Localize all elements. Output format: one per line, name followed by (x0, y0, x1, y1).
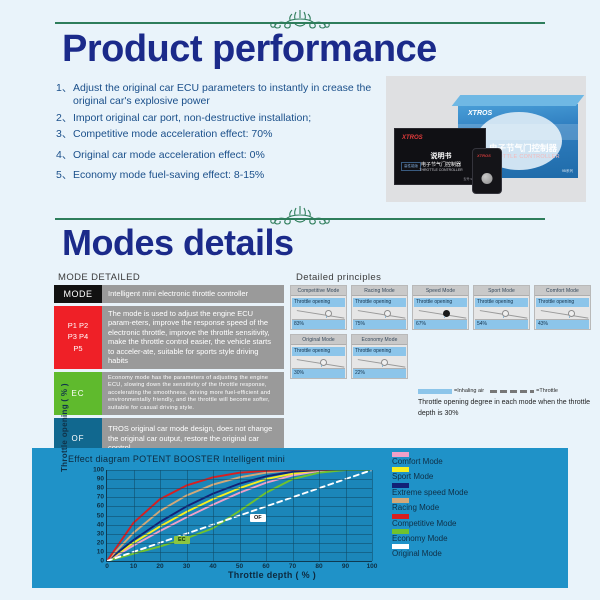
chart-legend-label: Sport Mode (392, 473, 542, 481)
y-axis-tick-label: 40 (97, 521, 104, 528)
chart-legend-label: Extreme speed Mode (392, 489, 542, 497)
page-title-modes-details: Modes details (62, 222, 294, 264)
chart-legend-item: Comfort Mode (392, 452, 542, 466)
grid-line-vertical (266, 470, 267, 561)
grid-line-vertical (160, 470, 161, 561)
legend-row: =Inhaling air =Throttle (418, 388, 596, 394)
card-subtitle: Throttle opening (292, 298, 345, 307)
y-axis-tick-label: 0 (100, 558, 104, 565)
y-axis-tick-label: 60 (97, 503, 104, 510)
product-photo: XTROS 电子节气门控制器 THROTTLE CONTROLLER 9B系列 … (386, 76, 586, 202)
x-axis-tick-label: 40 (209, 563, 216, 570)
y-axis-tick-label: 90 (97, 476, 104, 483)
bullet-text: Economy mode fuel-saving effect: 8-15% (73, 169, 376, 182)
bullet-text: Competitive mode acceleration effect: 70… (73, 128, 376, 141)
grid-line-vertical (319, 470, 320, 561)
card-title: Racing Mode (352, 286, 407, 296)
list-item: 4、 Original car mode acceleration effect… (56, 149, 376, 162)
chart-legend-item: Competitive Mode (392, 514, 542, 528)
x-axis-tick-label: 0 (105, 563, 109, 570)
card-subtitle: Throttle opening (292, 347, 345, 356)
box-brand-logo: XTROS (468, 110, 492, 117)
principle-card: Comfort Mode Throttle opening 43% (534, 285, 591, 330)
y-axis-tick-label: 80 (97, 485, 104, 492)
card-title: Speed Mode (413, 286, 468, 296)
bullet-number: 5、 (56, 169, 73, 182)
x-axis-tick-label: 50 (236, 563, 243, 570)
effect-diagram-panel: Effect diagram POTENT BOOSTER Intelligen… (32, 448, 568, 588)
card-percent-value: 43% (536, 320, 589, 329)
y-axis-tick-label: 70 (97, 494, 104, 501)
x-axis-tick-label: 80 (315, 563, 322, 570)
bullet-number: 3、 (56, 128, 73, 141)
bullet-number: 4、 (56, 149, 73, 162)
page-title-product-performance: Product performance (62, 28, 437, 71)
product-bullet-list: 1、 Adjust the original car ECU parameter… (56, 82, 376, 186)
card-title: Sport Mode (474, 286, 529, 296)
device-knob-icon (482, 173, 493, 184)
chart-y-axis-label: Throttle opening ( % ) (60, 382, 74, 472)
grid-line-vertical (240, 470, 241, 561)
chart-legend-item: Original Mode (392, 544, 542, 558)
principle-legend: =Inhaling air =Throttle Throttle opening… (418, 388, 596, 419)
mode-detail-table: MODE Intelligent mini electronic throttl… (54, 285, 284, 462)
chart-legend: Comfort ModeSport ModeExtreme speed Mode… (392, 452, 542, 560)
throttle-swatch (490, 390, 534, 393)
y-axis-tick-label: 50 (97, 512, 104, 519)
throttle-controller-device-image: XTROS (472, 148, 502, 194)
list-item: 5、 Economy mode fuel-saving effect: 8-15… (56, 169, 376, 182)
x-axis-tick-label: 60 (262, 563, 269, 570)
x-axis-tick-label: 10 (130, 563, 137, 570)
card-title: Original Mode (291, 335, 346, 345)
device-brand-logo: XTROS (477, 153, 491, 158)
card-subtitle: Throttle opening (353, 347, 406, 356)
principle-card: Racing Mode Throttle opening 75% (351, 285, 408, 330)
x-axis-tick-label: 70 (289, 563, 296, 570)
box-model-text: 9B系列 (562, 169, 573, 174)
y-axis-tick-label: 30 (97, 530, 104, 537)
section-label-mode-detailed: MODE DETAILED (58, 272, 140, 283)
card-percent-value: 83% (292, 320, 345, 329)
table-row: P1 P2 P3 P4 P5 The mode is used to adjus… (54, 306, 284, 369)
chart-plot-area: 0102030405060708090100010203040506070809… (106, 470, 372, 562)
bullet-number: 1、 (56, 82, 73, 109)
mode-description-cell: The mode is used to adjust the engine EC… (102, 306, 284, 369)
principle-card-row: Competitive Mode Throttle opening 83% Ra… (290, 285, 594, 330)
inhaling-air-label: =Inhaling air (454, 388, 484, 394)
list-item: 2、 Import original car port, non-destruc… (56, 112, 376, 125)
chart-legend-label: Original Mode (392, 550, 542, 558)
principle-card-grid: Competitive Mode Throttle opening 83% Ra… (290, 285, 594, 383)
card-title: Comfort Mode (535, 286, 590, 296)
chart-title: Effect diagram POTENT BOOSTER Intelligen… (68, 454, 285, 464)
card-subtitle: Throttle opening (536, 298, 589, 307)
chart-legend-item: Sport Mode (392, 467, 542, 481)
bullet-text: Original car mode acceleration effect: 0… (73, 149, 376, 162)
principle-card: Original Mode Throttle opening 30% (290, 334, 347, 379)
principle-card: Competitive Mode Throttle opening 83% (290, 285, 347, 330)
y-axis-tick-label: 20 (97, 539, 104, 546)
x-axis-tick-label: 100 (367, 563, 378, 570)
manual-brand-logo: XTROS (402, 135, 423, 141)
grid-line-vertical (372, 470, 373, 561)
card-percent-value: 22% (353, 369, 406, 378)
chart-legend-item: Economy Mode (392, 529, 542, 543)
card-subtitle: Throttle opening (475, 298, 528, 307)
card-percent-value: 67% (414, 320, 467, 329)
grid-line-vertical (134, 470, 135, 561)
chart-legend-swatch (392, 514, 409, 519)
chart-annotation-of: OF (250, 514, 266, 522)
grid-line-vertical (187, 470, 188, 561)
table-row: EC Economy mode has the parameters of ad… (54, 372, 284, 416)
card-title: Competitive Mode (291, 286, 346, 296)
bullet-text: Import original car port, non-destructiv… (73, 112, 376, 125)
card-percent-value: 75% (353, 320, 406, 329)
mode-key-cell: P1 P2 P3 P4 P5 (54, 306, 102, 369)
bullet-text: Adjust the original car ECU parameters t… (73, 82, 376, 109)
grid-line-vertical (346, 470, 347, 561)
principle-card-row: Original Mode Throttle opening 30% Econo… (290, 334, 594, 379)
card-percent-value: 30% (292, 369, 345, 378)
mode-key-cell: MODE (54, 285, 102, 303)
card-percent-value: 54% (475, 320, 528, 329)
mode-description-cell: Intelligent mini electronic throttle con… (102, 285, 284, 303)
chart-legend-label: Comfort Mode (392, 458, 542, 466)
infographic-page: Product performance 1、 Adjust the origin… (0, 0, 600, 600)
box-top-face (452, 95, 585, 106)
card-subtitle: Throttle opening (353, 298, 406, 307)
y-axis-tick-label: 10 (97, 548, 104, 555)
inhaling-air-swatch (418, 389, 452, 394)
principle-card: Speed Mode Throttle opening 67% (412, 285, 469, 330)
principle-card: Sport Mode Throttle opening 54% (473, 285, 530, 330)
chart-legend-label: Racing Mode (392, 504, 542, 512)
table-row: MODE Intelligent mini electronic throttl… (54, 285, 284, 303)
grid-line-vertical (213, 470, 214, 561)
grid-line-vertical (293, 470, 294, 561)
card-subtitle: Throttle opening (414, 298, 467, 307)
legend-note: Throttle opening degree in each mode whe… (418, 398, 596, 419)
list-item: 1、 Adjust the original car ECU parameter… (56, 82, 376, 109)
x-axis-tick-label: 20 (156, 563, 163, 570)
section-label-detailed-principles: Detailed principles (296, 272, 381, 283)
chart-legend-item: Racing Mode (392, 498, 542, 512)
chart-legend-item: Extreme speed Mode (392, 483, 542, 497)
y-axis-tick-label: 100 (93, 467, 104, 474)
bullet-number: 2、 (56, 112, 73, 125)
chart-x-axis-label: Throttle depth ( % ) (228, 570, 316, 580)
chart-legend-label: Competitive Mode (392, 520, 542, 528)
x-axis-tick-label: 90 (342, 563, 349, 570)
throttle-label: =Throttle (536, 388, 558, 394)
chart-annotation-ec: EC (174, 536, 190, 544)
x-axis-tick-label: 30 (183, 563, 190, 570)
principle-card: Economy Mode Throttle opening 22% (351, 334, 408, 379)
mode-description-cell: Economy mode has the parameters of adjus… (102, 372, 284, 416)
list-item: 3、 Competitive mode acceleration effect:… (56, 128, 376, 141)
card-title: Economy Mode (352, 335, 407, 345)
chart-legend-label: Economy Mode (392, 535, 542, 543)
